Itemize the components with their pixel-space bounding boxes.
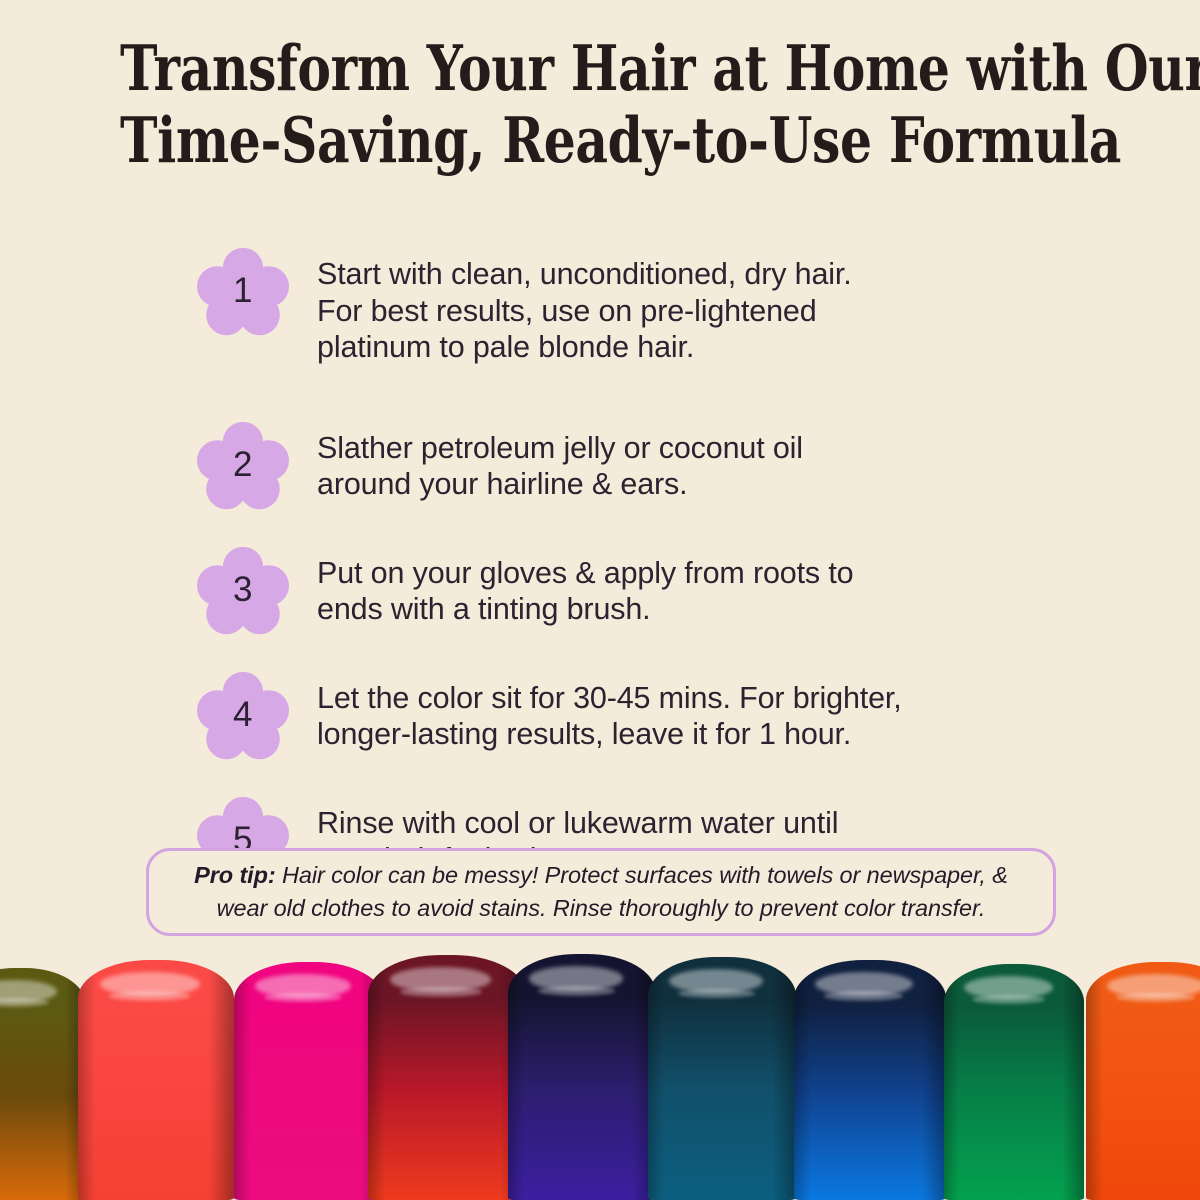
tube-highlight-secondary [109, 991, 190, 1001]
tube-shadow-right [772, 957, 796, 1200]
page-title: Transform Your Hair at Home with Our Tim… [120, 38, 1080, 171]
page-title-line-1: Transform Your Hair at Home with Our [120, 38, 1080, 100]
tube-shadow-left [368, 955, 385, 1200]
step-item: 1 Start with clean, unconditioned, dry h… [197, 246, 1077, 366]
color-tube-bright-orange [1086, 962, 1200, 1200]
pro-tip-label: Pro tip: [194, 862, 275, 888]
step-badge-2: 2 [197, 420, 289, 512]
step-text: Start with clean, unconditioned, dry hai… [317, 246, 1077, 366]
step-text: Put on your gloves & apply from roots to… [317, 545, 1077, 628]
tube-shadow-left [78, 960, 95, 1200]
tube-shadow-left [234, 962, 251, 1200]
step-number: 3 [197, 545, 289, 637]
color-tube-hot-pink [234, 962, 384, 1200]
step-item: 3 Put on your gloves & apply from roots … [197, 545, 1077, 637]
color-tube-burgundy-red [368, 955, 526, 1200]
color-tube-deep-teal [648, 957, 796, 1200]
color-tube-royal-blue [794, 960, 946, 1200]
steps-list: 1 Start with clean, unconditioned, dry h… [197, 246, 1077, 887]
tube-shadow-right [209, 960, 234, 1200]
pro-tip-callout: Pro tip: Hair color can be messy! Protec… [146, 848, 1056, 936]
tube-shadow-right [922, 960, 946, 1200]
step-badge-4: 4 [197, 670, 289, 762]
tube-highlight-secondary [678, 989, 755, 999]
color-tube-emerald-green [944, 964, 1084, 1200]
infographic-page: Transform Your Hair at Home with Our Tim… [0, 0, 1200, 1200]
step-badge-1: 1 [197, 246, 289, 338]
tube-highlight-secondary [400, 987, 482, 997]
pro-tip-body: Hair color can be messy! Protect surface… [217, 862, 1008, 921]
step-number: 1 [197, 246, 289, 338]
color-tube-olive-amber [0, 968, 86, 1200]
color-tube-indigo-violet [508, 954, 656, 1200]
tube-highlight-secondary [824, 991, 903, 1001]
step-item: 2 Slather petroleum jelly or coconut oil… [197, 420, 1077, 512]
tube-highlight-secondary [972, 995, 1045, 1004]
step-number: 4 [197, 670, 289, 762]
pro-tip-text: Pro tip: Hair color can be messy! Protec… [175, 859, 1027, 926]
product-photo-strip [0, 938, 1200, 1200]
tube-highlight-secondary [538, 986, 615, 996]
tube-shadow-right [1062, 964, 1084, 1200]
step-text: Let the color sit for 30-45 mins. For br… [317, 670, 1077, 753]
step-number: 2 [197, 420, 289, 512]
step-badge-3: 3 [197, 545, 289, 637]
tube-shadow-left [944, 964, 959, 1200]
tube-highlight-secondary [264, 993, 342, 1003]
step-item: 4 Let the color sit for 30-45 mins. For … [197, 670, 1077, 762]
tube-shadow-left [508, 954, 524, 1200]
tube-shadow-left [1086, 962, 1103, 1200]
color-tube-coral-red [78, 960, 234, 1200]
tube-shadow-left [648, 957, 664, 1200]
tube-shadow-left [794, 960, 811, 1200]
step-text: Slather petroleum jelly or coconut oil a… [317, 420, 1077, 503]
page-title-line-2: Time-Saving, Ready-to-Use Formula [120, 110, 1080, 172]
tube-highlight-secondary [0, 998, 49, 1007]
tube-highlight-secondary [1116, 993, 1195, 1003]
